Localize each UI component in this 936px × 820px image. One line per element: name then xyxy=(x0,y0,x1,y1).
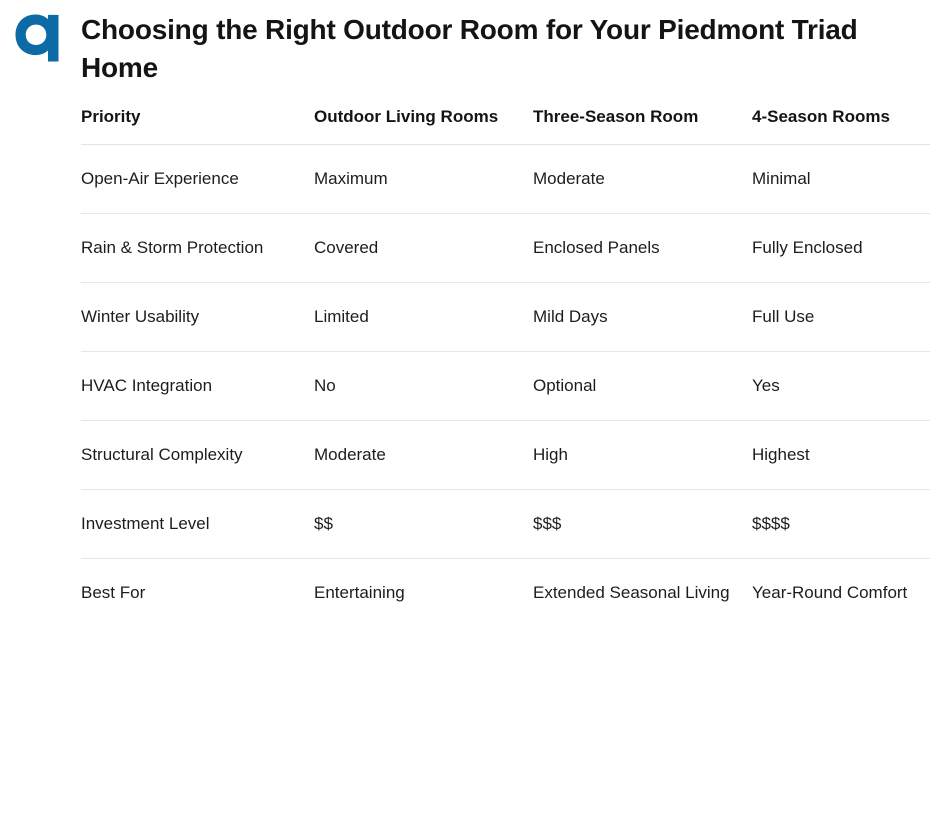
column-header-4-season-rooms: 4-Season Rooms xyxy=(752,104,930,145)
column-header-outdoor-living-rooms: Outdoor Living Rooms xyxy=(314,104,533,145)
cell-priority: HVAC Integration xyxy=(81,352,314,421)
cell-priority: Winter Usability xyxy=(81,283,314,352)
cell-4-season-rooms: Minimal xyxy=(752,145,930,214)
table-row: Structural Complexity Moderate High High… xyxy=(81,421,930,490)
cell-4-season-rooms: Yes xyxy=(752,352,930,421)
cell-4-season-rooms: $$$$ xyxy=(752,490,930,559)
cell-three-season-room: Mild Days xyxy=(533,283,752,352)
cell-4-season-rooms: Highest xyxy=(752,421,930,490)
table-header: Priority Outdoor Living Rooms Three-Seas… xyxy=(81,104,930,145)
table-row: Open-Air Experience Maximum Moderate Min… xyxy=(81,145,930,214)
cell-outdoor-living-rooms: Limited xyxy=(314,283,533,352)
cell-4-season-rooms: Fully Enclosed xyxy=(752,214,930,283)
cell-outdoor-living-rooms: Maximum xyxy=(314,145,533,214)
table-row: Rain & Storm Protection Covered Enclosed… xyxy=(81,214,930,283)
cell-priority: Open-Air Experience xyxy=(81,145,314,214)
cell-outdoor-living-rooms: Covered xyxy=(314,214,533,283)
column-header-priority: Priority xyxy=(81,104,314,145)
cell-three-season-room: Enclosed Panels xyxy=(533,214,752,283)
cell-three-season-room: $$$ xyxy=(533,490,752,559)
page-title: Choosing the Right Outdoor Room for Your… xyxy=(67,11,930,87)
cell-three-season-room: Moderate xyxy=(533,145,752,214)
cell-three-season-room: Optional xyxy=(533,352,752,421)
table-row: Investment Level $$ $$$ $$$$ xyxy=(81,490,930,559)
letter-a-logo-icon xyxy=(13,12,67,64)
column-header-three-season-room: Three-Season Room xyxy=(533,104,752,145)
cell-priority: Investment Level xyxy=(81,490,314,559)
table-row: Best For Entertaining Extended Seasonal … xyxy=(81,559,930,628)
table-row: Winter Usability Limited Mild Days Full … xyxy=(81,283,930,352)
cell-outdoor-living-rooms: Moderate xyxy=(314,421,533,490)
cell-outdoor-living-rooms: $$ xyxy=(314,490,533,559)
table-row: HVAC Integration No Optional Yes xyxy=(81,352,930,421)
cell-outdoor-living-rooms: Entertaining xyxy=(314,559,533,628)
cell-three-season-room: Extended Seasonal Living xyxy=(533,559,752,628)
page-root: Choosing the Right Outdoor Room for Your… xyxy=(0,0,936,820)
cell-4-season-rooms: Full Use xyxy=(752,283,930,352)
cell-priority: Best For xyxy=(81,559,314,628)
cell-three-season-room: High xyxy=(533,421,752,490)
cell-priority: Structural Complexity xyxy=(81,421,314,490)
page-header: Choosing the Right Outdoor Room for Your… xyxy=(0,0,936,87)
comparison-table: Priority Outdoor Living Rooms Three-Seas… xyxy=(81,104,930,627)
comparison-table-container: Priority Outdoor Living Rooms Three-Seas… xyxy=(0,87,936,627)
cell-priority: Rain & Storm Protection xyxy=(81,214,314,283)
cell-4-season-rooms: Year-Round Comfort xyxy=(752,559,930,628)
table-header-row: Priority Outdoor Living Rooms Three-Seas… xyxy=(81,104,930,145)
cell-outdoor-living-rooms: No xyxy=(314,352,533,421)
table-body: Open-Air Experience Maximum Moderate Min… xyxy=(81,145,930,628)
